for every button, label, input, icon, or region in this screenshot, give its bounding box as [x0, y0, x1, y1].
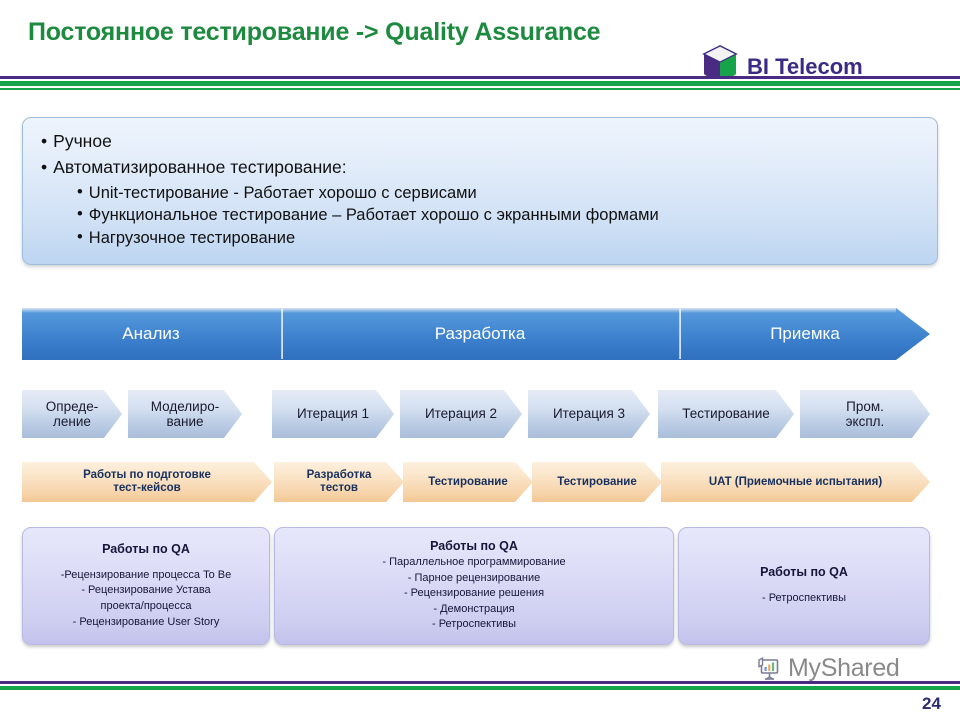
- header-rule-green-thin: [0, 88, 960, 90]
- qa-activity-chevron[interactable]: Тестирование: [403, 462, 533, 502]
- qa-activity-chevron-line: Тестирование: [557, 476, 637, 489]
- process-step-chevron-label: Итерация 2: [425, 406, 497, 421]
- process-step-chevron-line: Итерация 2: [425, 406, 497, 421]
- qa-activity-chevron-line: тестов: [307, 482, 372, 495]
- qa-note-line: проекта/процесса: [31, 599, 261, 615]
- qa-activity-chevron[interactable]: UAT (Приемочные испытания): [661, 462, 930, 502]
- process-step-chevron-label: Пром.экспл.: [846, 399, 885, 429]
- process-step-chevron-line: Итерация 1: [297, 406, 369, 421]
- qa-note-line: - Ретроспективы: [687, 591, 921, 607]
- qa-activity-chevron-label: Тестирование: [557, 476, 637, 489]
- process-step-chevron[interactable]: Пром.экспл.: [800, 390, 930, 438]
- process-step-chevron[interactable]: Итерация 2: [400, 390, 522, 438]
- qa-activity-chevron[interactable]: Работы по подготовкетест-кейсов: [22, 462, 272, 502]
- phase-segment-label: Приемка: [770, 324, 840, 344]
- bullet-text: Функциональное тестирование – Работает х…: [89, 205, 659, 226]
- process-step-chevron-line: вание: [151, 414, 219, 429]
- qa-note-line: - Рецензирование User Story: [31, 615, 261, 631]
- qa-note-line: - Рецензирование Устава: [31, 583, 261, 599]
- qa-note-line: -Рецензирование процесса To Be: [31, 568, 261, 584]
- qa-activity-chevron-line: UAT (Приемочные испытания): [709, 476, 882, 489]
- bullet-item: •Функциональное тестирование – Работает …: [41, 205, 919, 226]
- qa-activity-chevron-label: UAT (Приемочные испытания): [709, 476, 882, 489]
- qa-note-line: - Демонстрация: [283, 602, 665, 618]
- presentation-board-icon: [757, 656, 783, 682]
- process-step-chevron-line: Пром.: [846, 399, 885, 414]
- bullet-text: Автоматизированное тестирование:: [53, 157, 346, 179]
- qa-note-title: Работы по QA: [283, 539, 665, 553]
- qa-note-spacer: [687, 581, 921, 591]
- process-step-chevron-label: Итерация 1: [297, 406, 369, 421]
- phase-divider: [679, 309, 681, 359]
- qa-activity-chevron-line: Разработка: [307, 469, 372, 482]
- phase-segment-label: Разработка: [435, 324, 526, 344]
- process-step-chevron[interactable]: Тестирование: [658, 390, 794, 438]
- myshared-watermark: MyShared: [757, 654, 900, 683]
- bullet-marker-icon: •: [41, 157, 47, 177]
- process-step-chevron-line: Опреде-: [46, 399, 98, 414]
- bullet-text: Ручное: [53, 131, 112, 153]
- qa-note-box[interactable]: Работы по QA- Ретроспективы: [678, 527, 930, 645]
- phase-segment[interactable]: Приемка: [680, 308, 930, 360]
- watermark-label: MyShared: [788, 654, 900, 683]
- qa-activity-chevron[interactable]: Тестирование: [532, 462, 662, 502]
- phase-segment[interactable]: Анализ: [22, 308, 280, 360]
- slide-canvas: Постоянное тестирование -> Quality Assur…: [0, 0, 960, 720]
- qa-note-line: - Ретроспективы: [283, 617, 665, 633]
- qa-note-box[interactable]: Работы по QA-Рецензирование процесса To …: [22, 527, 270, 645]
- bullet-item: •Ручное: [41, 131, 919, 153]
- qa-activity-chevron-line: тест-кейсов: [83, 482, 211, 495]
- qa-activity-chevron[interactable]: Разработкатестов: [274, 462, 404, 502]
- process-step-chevron-line: ление: [46, 414, 98, 429]
- process-step-chevron-line: экспл.: [846, 414, 885, 429]
- process-step-chevron-line: Итерация 3: [553, 406, 625, 421]
- bullet-item: •Автоматизированное тестирование:: [41, 157, 919, 179]
- phase-divider: [281, 309, 283, 359]
- phase-segment-label: Анализ: [122, 324, 179, 344]
- process-step-chevron[interactable]: Моделиро-вание: [128, 390, 242, 438]
- qa-activity-chevron-line: Работы по подготовке: [83, 469, 211, 482]
- bullet-text: Unit-тестирование - Работает хорошо с се…: [89, 183, 477, 204]
- process-step-chevron-line: Тестирование: [682, 406, 770, 421]
- process-step-chevron-label: Тестирование: [682, 406, 770, 421]
- qa-note-title: Работы по QA: [31, 542, 261, 556]
- qa-activity-chevron-label: Работы по подготовкетест-кейсов: [83, 469, 211, 495]
- bullet-item: •Нагрузочное тестирование: [41, 228, 919, 249]
- qa-activity-chevron-label: Тестирование: [428, 476, 508, 489]
- bullet-marker-icon: •: [77, 183, 83, 202]
- footer-rule-green: [0, 686, 960, 690]
- phase-bar: АнализРазработкаПриемка: [22, 308, 930, 360]
- qa-note-title: Работы по QA: [687, 565, 921, 579]
- qa-note-spacer: [31, 558, 261, 568]
- bullet-text: Нагрузочное тестирование: [89, 228, 295, 249]
- qa-activity-chevron-label: Разработкатестов: [307, 469, 372, 495]
- bullet-panel: •Ручное•Автоматизированное тестирование:…: [22, 117, 938, 265]
- bullet-marker-icon: •: [41, 131, 47, 151]
- qa-note-box[interactable]: Работы по QA- Параллельное программирова…: [274, 527, 674, 645]
- page-number: 24: [922, 694, 941, 714]
- qa-activity-chevron-line: Тестирование: [428, 476, 508, 489]
- bullet-marker-icon: •: [77, 228, 83, 247]
- process-step-chevron-line: Моделиро-: [151, 399, 219, 414]
- phase-segment[interactable]: Разработка: [282, 308, 678, 360]
- qa-note-line: - Парное рецензирование: [283, 571, 665, 587]
- header-rule-green: [0, 81, 960, 86]
- process-step-chevron-label: Опреде-ление: [46, 399, 98, 429]
- page-title: Постоянное тестирование -> Quality Assur…: [28, 18, 600, 47]
- process-step-chevron-label: Моделиро-вание: [151, 399, 219, 429]
- process-step-chevron-label: Итерация 3: [553, 406, 625, 421]
- process-step-chevron[interactable]: Итерация 3: [528, 390, 650, 438]
- bullet-marker-icon: •: [77, 205, 83, 224]
- qa-note-line: - Рецензирование решения: [283, 586, 665, 602]
- qa-note-line: - Параллельное программирование: [283, 555, 665, 571]
- process-step-chevron[interactable]: Опреде-ление: [22, 390, 122, 438]
- bullet-item: •Unit-тестирование - Работает хорошо с с…: [41, 183, 919, 204]
- process-step-chevron[interactable]: Итерация 1: [272, 390, 394, 438]
